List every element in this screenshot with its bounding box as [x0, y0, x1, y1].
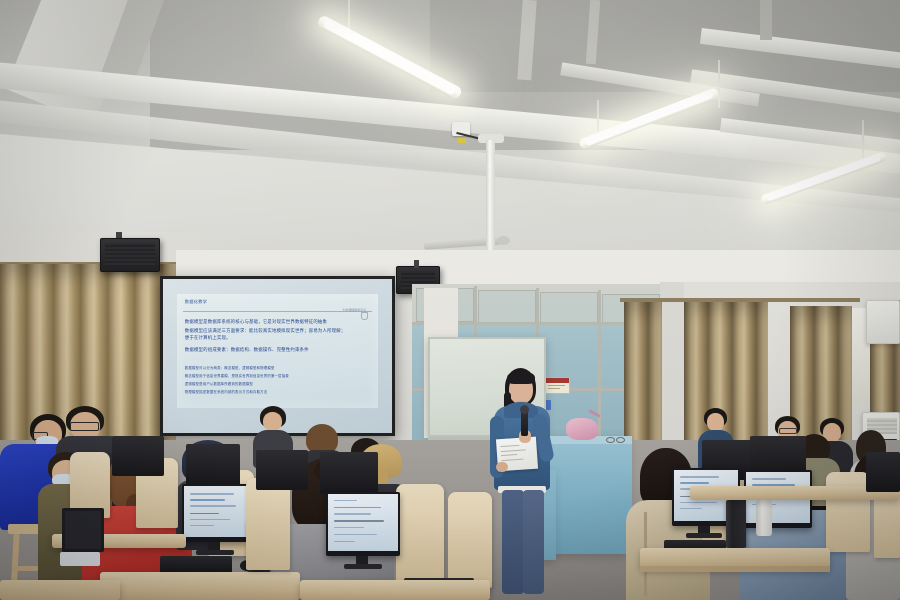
wall-speaker-left	[100, 238, 160, 272]
desk-divider-right-2	[826, 472, 870, 552]
slide-watermark-icon	[361, 312, 368, 320]
curtain-rod-right	[620, 298, 860, 302]
monitor-right-1-base	[686, 533, 722, 538]
speaker-bracket-center	[414, 260, 419, 268]
monitor-center-1-screen	[328, 494, 398, 551]
slide-line-3: 便于在计算机上实现。	[185, 335, 231, 341]
light-wire-2	[718, 60, 720, 108]
ceiling-fan-hub	[497, 236, 510, 245]
glass-pane-3	[540, 292, 598, 326]
mullion-vertical-3	[598, 290, 601, 442]
desk-right-edge	[640, 566, 830, 572]
slide-line-1: 数据模型是数据库系统的核心与基础，它是对现实世界数据特征的抽象	[185, 319, 327, 325]
presenter-jeans-right	[523, 490, 544, 594]
presenter-hand-paper	[496, 462, 508, 472]
pink-bag	[566, 418, 598, 440]
tablet-left-screen	[65, 511, 101, 549]
monitor-left-1	[182, 484, 248, 542]
presenter-jeans-left	[502, 490, 524, 594]
slide-line-7: 逻辑模型是用户从数据库所看到的数据模型	[185, 382, 253, 388]
slide-line-8: 物理模型描述数据在系统内部的表示方式和存取方法	[185, 390, 268, 396]
glass-pane-2	[478, 290, 536, 324]
slide-title: 数据化教学	[185, 299, 207, 305]
monitor-left-1-base	[196, 550, 234, 555]
desk-left-front	[100, 572, 300, 600]
monitor-back-right-3	[866, 452, 900, 492]
slide-line-4: 数据模型的组成要素：数据结构、数据操作、完整性约束条件	[185, 347, 309, 353]
eyeglasses-right-lens	[616, 437, 625, 443]
desk-foreground-bottom	[0, 580, 120, 600]
eyeglasses-left-lens	[606, 437, 615, 443]
projector-pole	[486, 140, 495, 266]
classroom-photo-scene: 数据化教学 大学课程教学平台 数据模型是数据库系统的核心与基础，它是对现实世界数…	[0, 0, 900, 600]
desk-divider-center-2	[396, 484, 444, 582]
wall-panel-right	[866, 300, 900, 344]
microphone-head	[520, 405, 529, 414]
monitor-back-left-1	[112, 436, 164, 476]
monitor-back-left-2	[186, 444, 240, 486]
monitor-left-1-screen	[184, 486, 246, 537]
curtain-right-1	[624, 302, 662, 452]
slide-line-5: 数据模型可以分为两类：概念模型、逻辑模型和物理模型	[185, 366, 275, 372]
presentation-slide: 数据化教学 大学课程教学平台 数据模型是数据库系统的核心与基础，它是对现实世界数…	[177, 294, 379, 408]
desk-divider-center-1	[246, 478, 290, 570]
monitor-center-1-base	[344, 564, 382, 569]
monitor-back-center-2	[320, 452, 378, 494]
pc-tower-right-1	[726, 500, 746, 548]
presenter-fringe	[507, 371, 535, 384]
student-presenter	[486, 368, 556, 598]
phone-left	[60, 552, 100, 566]
slide-line-6: 概念模型用于信息世界建模，是现实世界到信息世界的第一层抽象	[185, 374, 289, 380]
water-bottle	[756, 500, 772, 536]
monitor-back-center-1	[256, 450, 308, 490]
slide-line-2: 数据模型应该满足三方面要求：能比较真实地模拟现实世界；容易为人所理解；	[185, 328, 346, 334]
desk-divider-center-3	[448, 492, 492, 588]
lectern-podium	[546, 436, 632, 554]
cable-tag	[458, 138, 466, 143]
monitor-center-1	[326, 492, 400, 556]
desk-center-front	[300, 580, 490, 600]
